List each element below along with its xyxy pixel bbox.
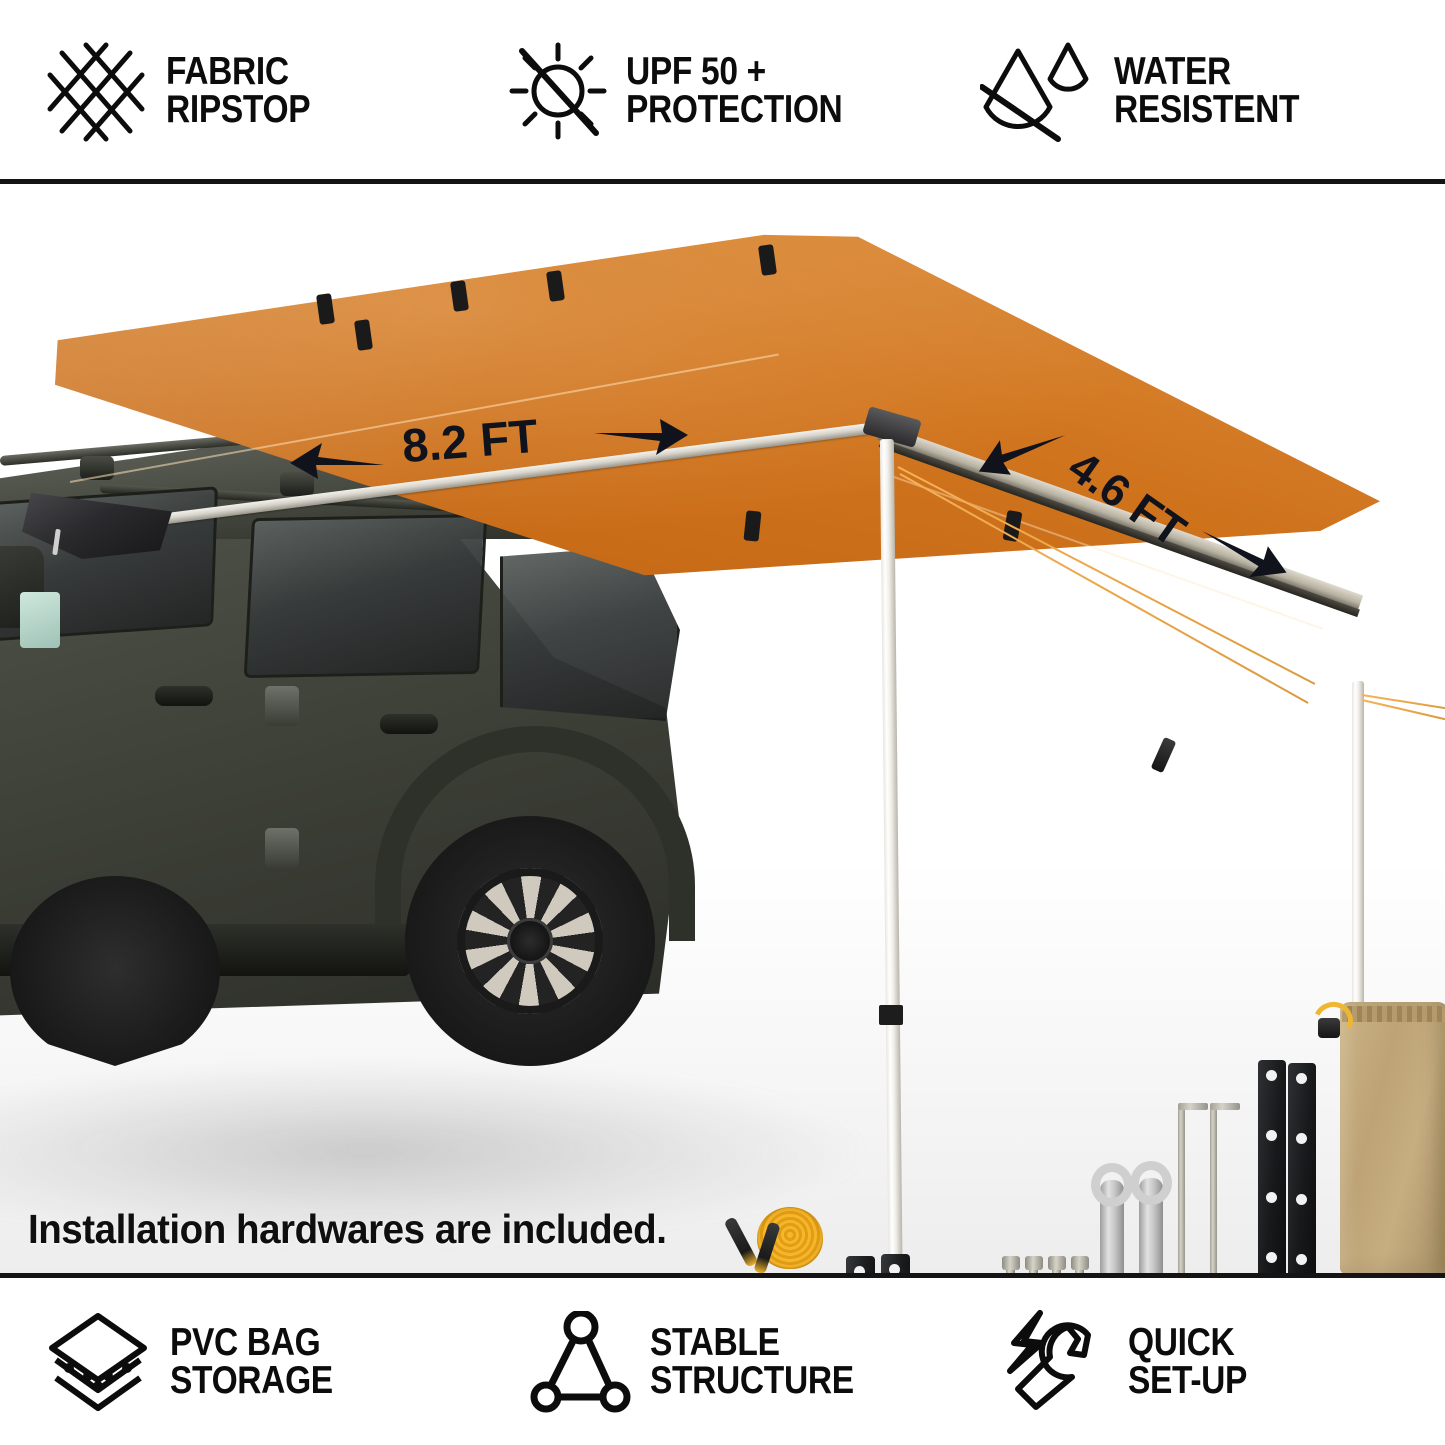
feature-label: STABLE STRUCTURE — [650, 1324, 854, 1399]
door-handle-front — [380, 714, 438, 734]
bolt-head — [1071, 1256, 1089, 1270]
side-mirror-glass — [20, 592, 60, 648]
feature-label: UPF 50 + PROTECTION — [626, 53, 842, 128]
canopy-tab — [316, 293, 335, 325]
top-feature-bar: FABRIC RIPSTOP — [0, 0, 1445, 181]
canopy-tab — [743, 510, 761, 541]
feature-upf-protection: UPF 50 + PROTECTION — [500, 0, 970, 181]
product-scene: 8.2 FT 4.6 FT — [0, 181, 1445, 1275]
bolt-wrench-icon — [1000, 1309, 1110, 1415]
door-hinge-lower — [265, 828, 299, 868]
arrow-left-icon — [288, 439, 384, 483]
dimension-width-label: 8.2 FT — [400, 408, 540, 473]
guy-line-tensioner — [1151, 737, 1177, 773]
arrow-right-icon — [594, 415, 690, 459]
bracket-hole — [1266, 1130, 1277, 1141]
door-hinge-upper — [265, 686, 299, 726]
feature-quick-setup: QUICK SET-UP — [990, 1278, 1445, 1445]
hardware-included-caption: Installation hardwares are included. — [28, 1206, 666, 1253]
sun-blocked-icon — [508, 37, 608, 145]
feature-water-resistent: WATER RESISTENT — [970, 0, 1445, 181]
bracket-hole — [1266, 1070, 1277, 1081]
bolt-head — [1048, 1256, 1066, 1270]
l-bracket-1 — [1258, 1060, 1286, 1278]
feature-fabric-ripstop: FABRIC RIPSTOP — [0, 0, 500, 181]
pole-collar-left — [879, 1005, 903, 1025]
bolt-head — [1002, 1256, 1020, 1270]
top-divider — [0, 179, 1445, 184]
storage-bag — [1340, 1002, 1445, 1274]
storage-bag-cord-lock — [1318, 1018, 1340, 1038]
bottom-feature-bar: PVC BAG STORAGE STABLE STRUCTURE — [0, 1278, 1445, 1445]
bottom-divider — [0, 1273, 1445, 1278]
vehicle-window-mid — [244, 514, 488, 678]
feature-label: QUICK SET-UP — [1128, 1324, 1247, 1399]
feature-label: WATER RESISTENT — [1114, 53, 1299, 128]
crosshatch-fabric-icon — [44, 35, 148, 147]
bracket-hole — [1266, 1192, 1277, 1203]
door-handle-rear — [155, 686, 213, 706]
feature-label: FABRIC RIPSTOP — [166, 53, 310, 128]
bracket-hole — [1296, 1194, 1307, 1205]
bolt-head — [1025, 1256, 1043, 1270]
feature-label: PVC BAG STORAGE — [170, 1324, 333, 1399]
wrench-jaw — [1091, 1163, 1133, 1207]
bracket-hole — [1296, 1073, 1307, 1084]
bracket-hole — [1296, 1133, 1307, 1144]
feature-stable-structure: STABLE STRUCTURE — [520, 1278, 990, 1445]
layers-stack-icon — [44, 1310, 152, 1414]
water-droplet-icon — [980, 33, 1096, 149]
rear-wheel — [10, 876, 220, 1066]
wheel-hub — [507, 918, 553, 964]
wrench-jaw — [1130, 1161, 1172, 1205]
l-bracket-2 — [1288, 1063, 1316, 1278]
support-pole-left — [880, 439, 904, 1275]
hex-key-1-arm — [1178, 1103, 1208, 1110]
hex-key-2-arm — [1210, 1103, 1240, 1110]
product-feature-poster: FABRIC RIPSTOP — [0, 0, 1445, 1445]
bracket-hole — [1296, 1254, 1307, 1265]
feature-pvc-bag-storage: PVC BAG STORAGE — [0, 1278, 520, 1445]
triangle-nodes-icon — [530, 1311, 632, 1413]
bracket-hole — [1266, 1252, 1277, 1263]
storage-bag-cinch — [1342, 1006, 1445, 1022]
